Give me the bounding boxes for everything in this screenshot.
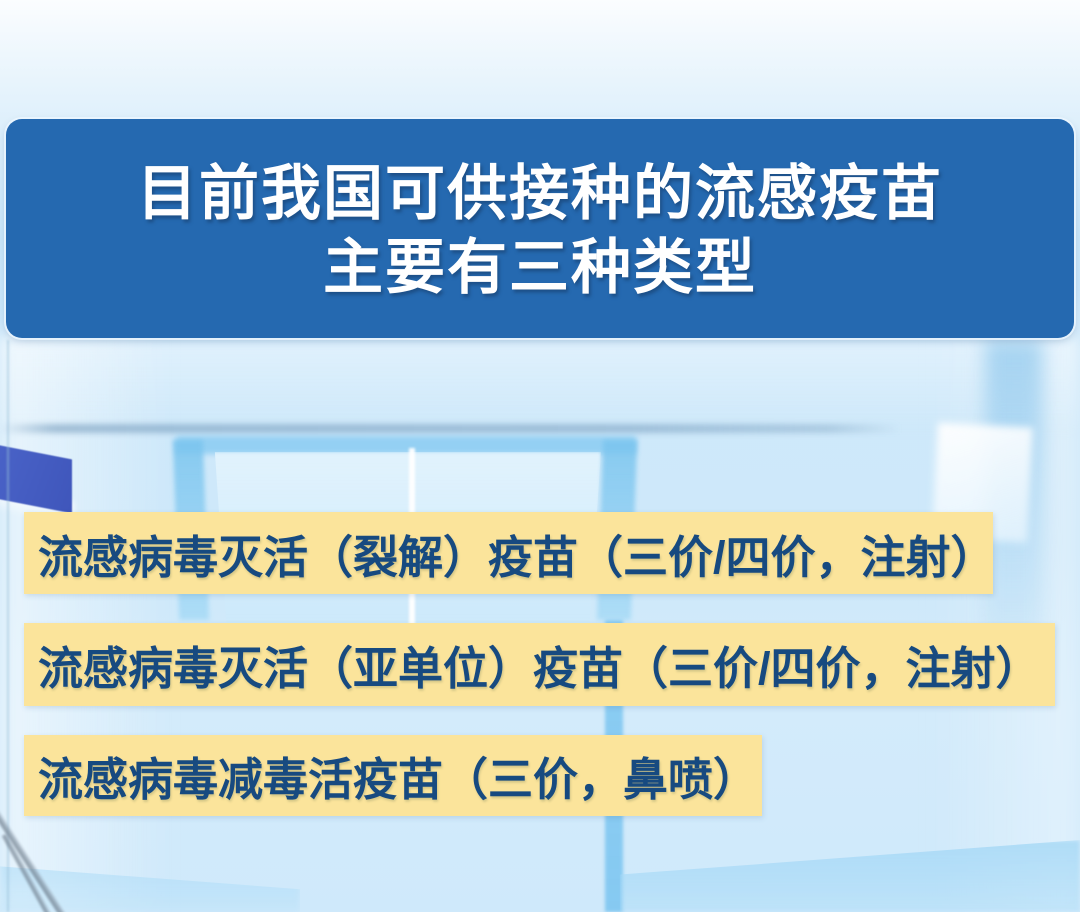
title-banner: 目前我国可供接种的流感疫苗 主要有三种类型: [6, 119, 1074, 338]
title-line-1: 目前我国可供接种的流感疫苗: [137, 157, 943, 230]
vaccine-item-label-1: 流感病毒灭活（裂解）疫苗（三价/四价，注射）: [38, 521, 996, 586]
vaccine-item-bar-3: 流感病毒减毒活疫苗（三价，鼻喷）: [24, 735, 762, 816]
title-line-2: 主要有三种类型: [323, 231, 757, 304]
vaccine-item-label-2: 流感病毒灭活（亚单位）疫苗（三价/四价，注射）: [38, 632, 1041, 697]
vaccine-item-label-3: 流感病毒减毒活疫苗（三价，鼻喷）: [38, 743, 758, 808]
doorway-lintel: [176, 436, 636, 454]
background-horizon-line: [0, 424, 900, 433]
vaccine-item-bar-2: 流感病毒灭活（亚单位）疫苗（三价/四价，注射）: [24, 623, 1055, 706]
vaccine-item-bar-1: 流感病毒灭活（裂解）疫苗（三价/四价，注射）: [24, 512, 993, 594]
poster-root: 目前我国可供接种的流感疫苗 主要有三种类型 流感病毒灭活（裂解）疫苗（三价/四价…: [0, 0, 1080, 912]
background-glow-left: [0, 330, 170, 912]
